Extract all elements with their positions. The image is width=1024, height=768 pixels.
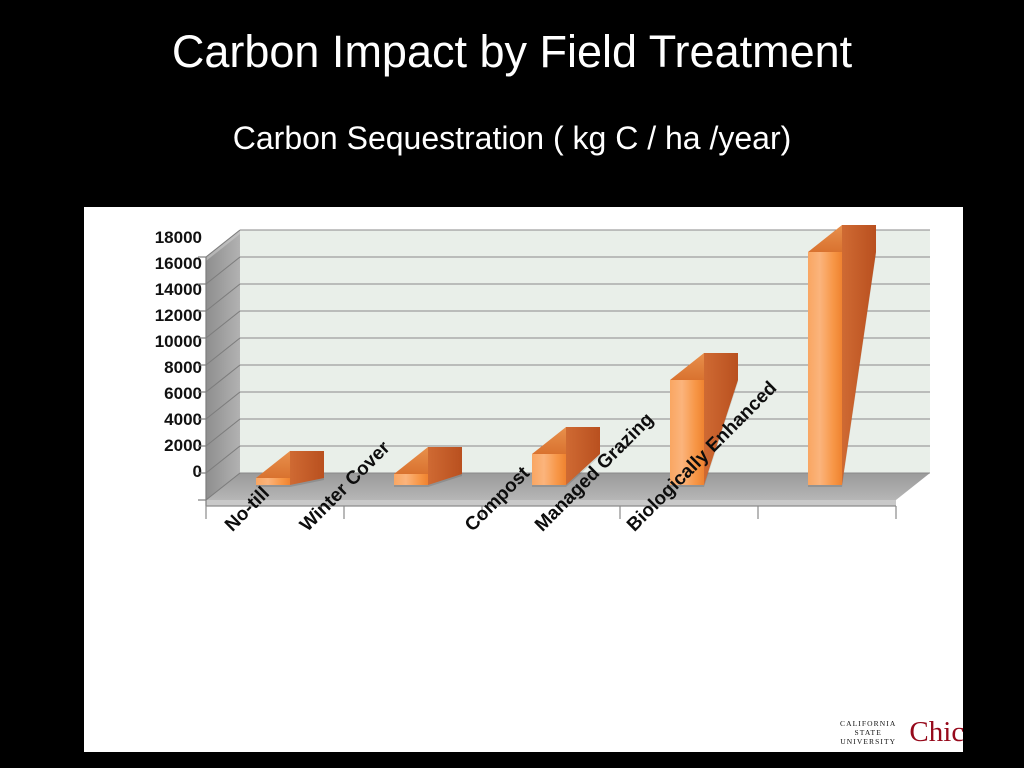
x-tick-label-no-till: No-till [221,483,275,537]
logo-line-university: UNIVERSITY [840,737,896,746]
page-subtitle: Carbon Sequestration ( kg C / ha /year) [0,118,1024,158]
x-tick-label-compost: Compost [461,463,535,537]
chart-panel: 18000 16000 14000 12000 10000 8000 6000 … [84,207,963,752]
slide: Carbon Impact by Field Treatment Carbon … [0,0,1024,768]
logo-line-california: CALIFORNIA [840,719,896,728]
page-title: Carbon Impact by Field Treatment [0,26,1024,78]
logo-wordmark-chico: Chico [902,717,963,747]
x-tick-label-winter-cover: Winter Cover [296,438,395,537]
university-logo: CALIFORNIA STATE UNIVERSITY Chico [840,712,960,752]
x-axis-labels: No-till Winter Cover Compost Managed Gra… [84,207,963,752]
x-tick-label-biologically-enhanced: Biologically Enhanced [623,378,782,537]
logo-line-state: STATE [840,728,896,737]
bar-chart: 18000 16000 14000 12000 10000 8000 6000 … [84,207,963,752]
logo-wordmark-left: CALIFORNIA STATE UNIVERSITY [840,719,902,746]
